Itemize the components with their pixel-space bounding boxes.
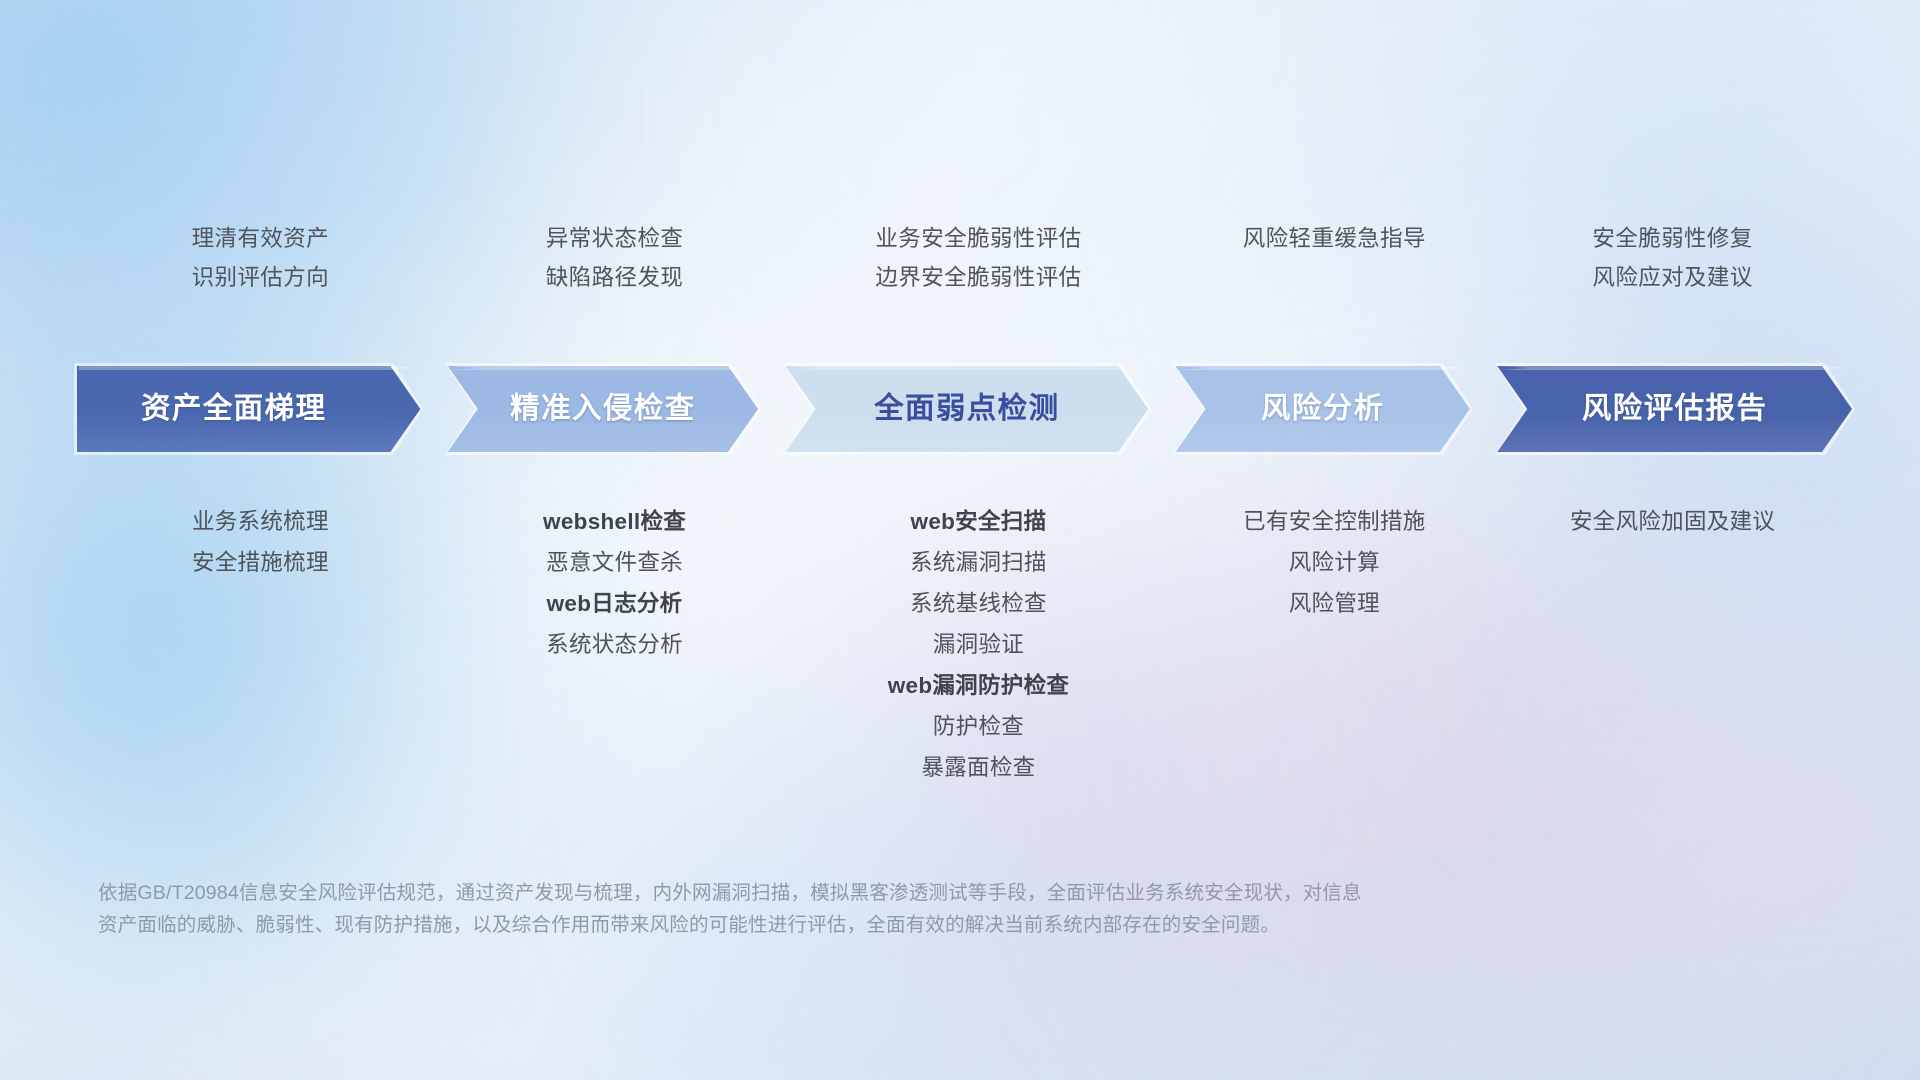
activity-item: web漏洞防护检查 [888, 672, 1069, 699]
input-item: 风险轻重缓急指导 [1243, 225, 1426, 252]
activity-item: 暴露面检查 [921, 754, 1035, 781]
input-item: 风险应对及建议 [1592, 264, 1752, 291]
chevron-highlight-weakness-detection [787, 366, 1146, 370]
footer-line-2: 资产面临的威胁、脆弱性、现有防护措施，以及综合作用而带来风险的可能性进行评估，全… [98, 910, 1658, 942]
chevron-label-risk-analysis: 风险分析 [1261, 391, 1385, 425]
activity-item: web安全扫描 [911, 508, 1047, 535]
activity-item: 漏洞验证 [933, 631, 1024, 658]
activity-item: 风险管理 [1289, 590, 1380, 617]
chevron-label-asset-inventory: 资产全面梯理 [141, 391, 326, 425]
stage-inputs-risk-analysis: 风险轻重缓急指导 [1174, 225, 1496, 335]
stage-inputs-row: 理清有效资产识别评估方向异常状态检查缺陷路径发现业务安全脆弱性评估边界安全脆弱性… [75, 225, 1855, 335]
stage-inputs-weakness-detection: 业务安全脆弱性评估边界安全脆弱性评估 [783, 225, 1173, 335]
input-item: 业务安全脆弱性评估 [875, 225, 1081, 252]
stage-inputs-intrusion-check: 异常状态检查缺陷路径发现 [446, 225, 784, 335]
chevron-highlight-risk-analysis [1178, 366, 1468, 370]
chevron-label-intrusion-check: 精准入侵检查 [510, 391, 695, 425]
slide-canvas: 理清有效资产识别评估方向异常状态检查缺陷路径发现业务安全脆弱性评估边界安全脆弱性… [0, 0, 1920, 1080]
stage-inputs-risk-report: 安全脆弱性修复风险应对及建议 [1495, 225, 1850, 335]
chevron-label-risk-report: 风险评估报告 [1582, 391, 1767, 425]
activity-item: 恶意文件查杀 [546, 549, 683, 576]
input-item: 缺陷路径发现 [546, 264, 683, 291]
input-item: 安全脆弱性修复 [1592, 225, 1752, 252]
chevron-highlight-intrusion-check [450, 366, 756, 370]
activity-item: webshell检查 [543, 508, 686, 535]
stage-activities-risk-analysis: 已有安全控制措施风险计算风险管理 [1174, 508, 1496, 617]
activity-item: 已有安全控制措施 [1243, 508, 1425, 535]
input-item: 异常状态检查 [546, 225, 683, 252]
footer-line-1: 依据GB/T20984信息安全风险评估规范，通过资产发现与梳理，内外网漏洞扫描，… [98, 878, 1658, 910]
process-chevron-band: 资产全面梯理精准入侵检查全面弱点检测风险分析风险评估报告 [77, 366, 1852, 452]
stage-activities-asset-inventory: 业务系统梳理安全措施梳理 [75, 508, 446, 576]
footer-description: 依据GB/T20984信息安全风险评估规范，通过资产发现与梳理，内外网漏洞扫描，… [98, 878, 1658, 941]
activity-item: 业务系统梳理 [192, 508, 329, 535]
activity-item: 风险计算 [1289, 549, 1380, 576]
activity-item: 防护检查 [933, 713, 1024, 740]
slide-content: 理清有效资产识别评估方向异常状态检查缺陷路径发现业务安全脆弱性评估边界安全脆弱性… [0, 0, 1920, 1080]
stage-inputs-asset-inventory: 理清有效资产识别评估方向 [75, 225, 446, 335]
activity-item: 系统状态分析 [546, 631, 683, 658]
chevron-label-weakness-detection: 全面弱点检测 [873, 391, 1059, 425]
chevron-highlight-risk-report [1499, 366, 1850, 370]
input-item: 边界安全脆弱性评估 [875, 264, 1081, 291]
activity-item: 安全风险加固及建议 [1570, 508, 1775, 535]
stage-activities-weakness-detection: web安全扫描系统漏洞扫描系统基线检查漏洞验证web漏洞防护检查防护检查暴露面检… [783, 508, 1173, 781]
activity-item: 系统漏洞扫描 [910, 549, 1047, 576]
process-chevron-svg: 资产全面梯理精准入侵检查全面弱点检测风险分析风险评估报告 [77, 366, 1852, 452]
chevron-highlight-asset-inventory [79, 366, 418, 370]
activity-item: 安全措施梳理 [192, 549, 329, 576]
stage-activities-row: 业务系统梳理安全措施梳理webshell检查恶意文件查杀web日志分析系统状态分… [75, 508, 1855, 781]
activity-item: web日志分析 [547, 590, 683, 617]
stage-activities-intrusion-check: webshell检查恶意文件查杀web日志分析系统状态分析 [446, 508, 784, 658]
stage-activities-risk-report: 安全风险加固及建议 [1495, 508, 1850, 535]
input-item: 理清有效资产 [192, 225, 329, 252]
input-item: 识别评估方向 [192, 264, 329, 291]
activity-item: 系统基线检查 [910, 590, 1047, 617]
